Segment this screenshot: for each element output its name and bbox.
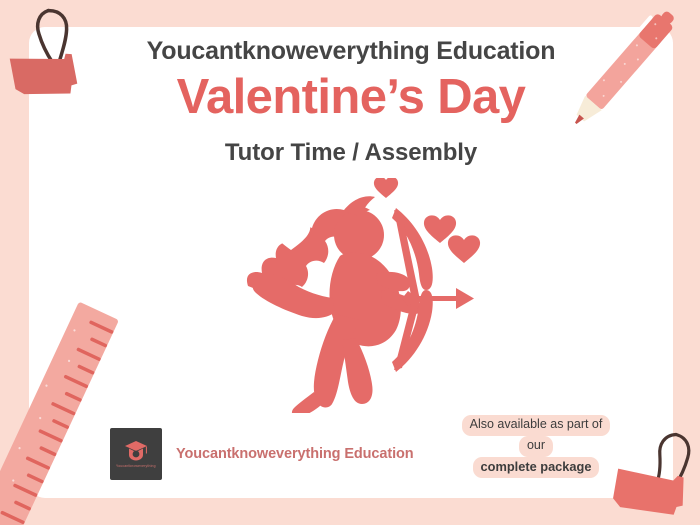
ruler-icon <box>0 322 132 525</box>
package-badge-line-2: our <box>519 436 553 457</box>
binder-clip-icon-top-left <box>0 0 116 118</box>
cupid-illustration <box>236 178 486 413</box>
footer-brand-text: Youcantknoweverything Education <box>176 446 414 462</box>
footer-logo-row: Youcantknoweverything Youcantknoweveryth… <box>110 428 414 480</box>
poster-canvas: Youcantknoweverything Education Valentin… <box>0 0 700 525</box>
package-badge-line-3: complete package <box>473 457 600 478</box>
binder-clip-icon-bottom-right <box>600 420 700 525</box>
package-badge[interactable]: Also available as part of our complete p… <box>452 415 620 478</box>
pen-icon <box>548 0 698 144</box>
package-badge-line-1: Also available as part of <box>462 415 611 436</box>
